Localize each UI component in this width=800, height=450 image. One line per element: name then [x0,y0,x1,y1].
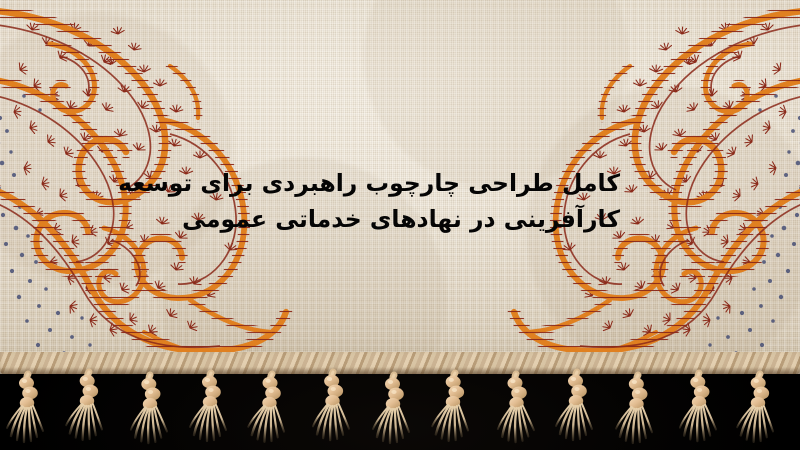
slide-title: کامل طراحی چارچوب راهبردی برای توسعه کار… [200,165,620,237]
slide-canvas: کامل طراحی چارچوب راهبردی برای توسعه کار… [0,0,800,450]
title-line-1: کامل طراحی چارچوب راهبردی برای توسعه [200,165,620,201]
braided-edge [0,352,800,374]
title-line-2: کارآفرینی در نهادهای خدماتی عمومی [200,201,620,237]
